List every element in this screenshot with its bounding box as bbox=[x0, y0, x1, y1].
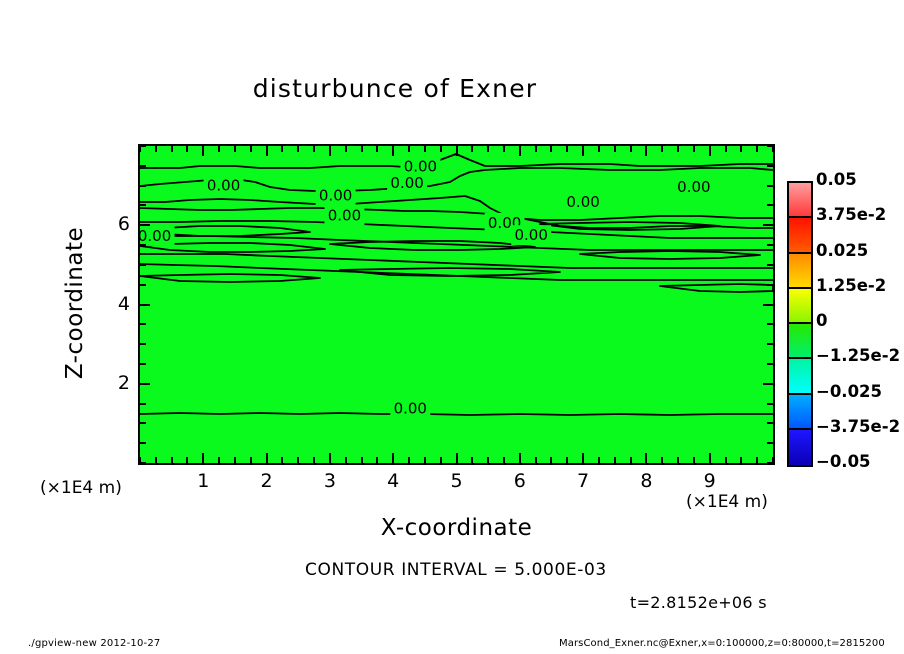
y-tick-right-major bbox=[763, 224, 773, 226]
x-tick-label: 4 bbox=[373, 470, 413, 492]
x-tick-top-minor bbox=[535, 146, 537, 152]
x-tick-minor bbox=[234, 457, 236, 463]
x-axis-unit-right: (×1E4 m) bbox=[686, 492, 768, 512]
contour-label: 0.00 bbox=[404, 158, 437, 176]
colorbar-band[interactable] bbox=[789, 218, 811, 253]
contour-label: 0.00 bbox=[677, 178, 710, 196]
y-tick-label: 2 bbox=[96, 372, 130, 394]
contour-label: 0.00 bbox=[319, 187, 352, 205]
x-tick-minor bbox=[345, 457, 347, 463]
x-tick-major bbox=[456, 453, 458, 463]
footer-source-label: MarsCond_Exner.nc@Exner,x=0:100000,z=0:8… bbox=[559, 638, 885, 649]
y-tick-right-major bbox=[763, 304, 773, 306]
x-tick-minor bbox=[281, 457, 283, 463]
contour-interval-note: CONTOUR INTERVAL = 5.000E-03 bbox=[305, 560, 607, 580]
x-tick-top-major bbox=[645, 146, 647, 156]
x-tick-minor bbox=[630, 457, 632, 463]
y-axis-title: Z-coordinate bbox=[62, 183, 88, 423]
y-tick-minor bbox=[140, 145, 146, 147]
colorbar-tick-label: −3.75e-2 bbox=[816, 417, 900, 436]
x-tick-minor bbox=[725, 457, 727, 463]
x-tick-major bbox=[645, 453, 647, 463]
x-tick-major bbox=[329, 453, 331, 463]
y-tick-right-minor bbox=[767, 363, 773, 365]
y-tick-minor bbox=[140, 442, 146, 444]
x-tick-top-minor bbox=[503, 146, 505, 152]
y-tick-major bbox=[140, 224, 150, 226]
x-tick-top-minor bbox=[550, 146, 552, 152]
y-tick-minor bbox=[140, 264, 146, 266]
x-tick-minor bbox=[566, 457, 568, 463]
x-tick-label: 5 bbox=[437, 470, 477, 492]
x-tick-top-minor bbox=[376, 146, 378, 152]
y-tick-right-minor bbox=[767, 323, 773, 325]
y-tick-label: 4 bbox=[96, 293, 130, 315]
x-tick-minor bbox=[440, 457, 442, 463]
colorbar-tick-label: −1.25e-2 bbox=[816, 346, 900, 365]
x-tick-minor bbox=[756, 457, 758, 463]
contour-path bbox=[140, 208, 773, 228]
y-tick-right-minor bbox=[767, 462, 773, 464]
x-tick-major bbox=[202, 453, 204, 463]
x-tick-label: 8 bbox=[626, 470, 666, 492]
x-tick-top-major bbox=[329, 146, 331, 156]
x-axis-title: X-coordinate bbox=[138, 515, 775, 541]
y-tick-minor bbox=[140, 323, 146, 325]
x-tick-top-major bbox=[456, 146, 458, 156]
x-tick-top-minor bbox=[361, 146, 363, 152]
x-tick-top-minor bbox=[630, 146, 632, 152]
y-tick-right-major bbox=[763, 383, 773, 385]
contour-path bbox=[580, 251, 760, 259]
y-tick-minor bbox=[140, 284, 146, 286]
colorbar-band[interactable] bbox=[789, 254, 811, 289]
colorbar-tick-label: 1.25e-2 bbox=[816, 276, 886, 295]
y-tick-minor bbox=[140, 422, 146, 424]
x-tick-top-minor bbox=[725, 146, 727, 152]
x-tick-top-major bbox=[709, 146, 711, 156]
contour-label: 0.00 bbox=[514, 226, 547, 244]
x-tick-minor bbox=[424, 457, 426, 463]
contour-path bbox=[140, 264, 773, 280]
y-tick-right-minor bbox=[767, 422, 773, 424]
x-tick-major bbox=[519, 453, 521, 463]
contour-lines-svg: 0.000.000.000.000.000.000.000.000.000.00… bbox=[140, 146, 773, 463]
x-tick-minor bbox=[218, 457, 220, 463]
footer-command-label: ./gpview-new 2012-10-27 bbox=[28, 638, 160, 649]
contour-label-group: 0.000.000.000.000.000.000.000.000.000.00… bbox=[140, 157, 714, 419]
y-tick-right-minor bbox=[767, 165, 773, 167]
time-stamp-label: t=2.8152e+06 s bbox=[630, 593, 767, 612]
x-tick-major bbox=[709, 453, 711, 463]
y-tick-minor bbox=[140, 185, 146, 187]
x-tick-major bbox=[266, 453, 268, 463]
x-tick-top-minor bbox=[740, 146, 742, 152]
x-tick-top-minor bbox=[614, 146, 616, 152]
y-tick-right-minor bbox=[767, 264, 773, 266]
x-tick-top-minor bbox=[171, 146, 173, 152]
y-tick-right-minor bbox=[767, 185, 773, 187]
x-tick-label: 3 bbox=[310, 470, 350, 492]
x-tick-top-minor bbox=[693, 146, 695, 152]
x-tick-major bbox=[392, 453, 394, 463]
x-tick-top-minor bbox=[677, 146, 679, 152]
x-tick-minor bbox=[487, 457, 489, 463]
x-tick-top-minor bbox=[566, 146, 568, 152]
x-tick-label: 2 bbox=[247, 470, 287, 492]
x-tick-minor bbox=[693, 457, 695, 463]
contour-label: 0.00 bbox=[566, 193, 599, 211]
y-tick-right-minor bbox=[767, 403, 773, 405]
colorbar-tick-label: −0.05 bbox=[816, 452, 871, 471]
y-tick-minor bbox=[140, 462, 146, 464]
x-tick-label: 6 bbox=[500, 470, 540, 492]
y-tick-right-minor bbox=[767, 145, 773, 147]
x-tick-minor bbox=[677, 457, 679, 463]
colorbar[interactable] bbox=[787, 181, 813, 467]
colorbar-band[interactable] bbox=[789, 324, 811, 359]
y-tick-minor bbox=[140, 165, 146, 167]
colorbar-tick-label: 3.75e-2 bbox=[816, 205, 886, 224]
x-tick-top-minor bbox=[218, 146, 220, 152]
x-tick-top-minor bbox=[471, 146, 473, 152]
contour-label: 0.00 bbox=[390, 174, 423, 192]
y-tick-minor bbox=[140, 363, 146, 365]
x-tick-minor bbox=[186, 457, 188, 463]
x-tick-top-major bbox=[202, 146, 204, 156]
y-tick-right-minor bbox=[767, 343, 773, 345]
x-tick-top-minor bbox=[234, 146, 236, 152]
y-tick-minor bbox=[140, 244, 146, 246]
colorbar-band[interactable] bbox=[789, 430, 811, 465]
y-tick-right-minor bbox=[767, 442, 773, 444]
x-tick-minor bbox=[408, 457, 410, 463]
x-tick-top-minor bbox=[661, 146, 663, 152]
x-tick-minor bbox=[250, 457, 252, 463]
y-tick-right-minor bbox=[767, 244, 773, 246]
x-tick-top-minor bbox=[756, 146, 758, 152]
colorbar-tick-label: 0.025 bbox=[816, 241, 868, 260]
contour-path bbox=[140, 413, 773, 415]
contour-path bbox=[140, 254, 773, 268]
x-tick-minor bbox=[598, 457, 600, 463]
x-tick-minor bbox=[171, 457, 173, 463]
y-tick-right-minor bbox=[767, 204, 773, 206]
contour-path bbox=[660, 284, 773, 292]
x-tick-minor bbox=[503, 457, 505, 463]
x-tick-minor bbox=[155, 457, 157, 463]
contour-label: 0.00 bbox=[394, 400, 427, 418]
x-tick-label: 9 bbox=[690, 470, 730, 492]
y-tick-minor bbox=[140, 403, 146, 405]
colorbar-band[interactable] bbox=[789, 183, 811, 218]
contour-path bbox=[140, 274, 320, 282]
x-tick-top-minor bbox=[155, 146, 157, 152]
colorbar-band[interactable] bbox=[789, 359, 811, 394]
x-tick-minor bbox=[740, 457, 742, 463]
colorbar-tick-label: −0.025 bbox=[816, 382, 882, 401]
colorbar-tick-label: 0 bbox=[816, 311, 827, 330]
x-tick-minor bbox=[471, 457, 473, 463]
x-tick-top-minor bbox=[186, 146, 188, 152]
x-tick-minor bbox=[361, 457, 363, 463]
x-tick-major bbox=[582, 453, 584, 463]
contour-label: 0.00 bbox=[140, 227, 171, 245]
x-tick-top-minor bbox=[487, 146, 489, 152]
y-tick-label: 6 bbox=[96, 213, 130, 235]
x-tick-minor bbox=[313, 457, 315, 463]
contour-path bbox=[330, 241, 535, 250]
colorbar-tick-label: 0.05 bbox=[816, 170, 857, 189]
x-tick-top-major bbox=[519, 146, 521, 156]
x-tick-top-minor bbox=[250, 146, 252, 152]
x-tick-top-major bbox=[392, 146, 394, 156]
y-tick-major bbox=[140, 304, 150, 306]
contour-label: 0.00 bbox=[207, 177, 240, 195]
x-tick-top-major bbox=[266, 146, 268, 156]
y-tick-minor bbox=[140, 343, 146, 345]
x-tick-label: 7 bbox=[563, 470, 603, 492]
contour-label: 0.00 bbox=[328, 206, 361, 224]
x-tick-minor bbox=[297, 457, 299, 463]
y-tick-right-minor bbox=[767, 284, 773, 286]
contour-path bbox=[140, 154, 773, 168]
x-tick-top-minor bbox=[408, 146, 410, 152]
x-tick-top-minor bbox=[281, 146, 283, 152]
x-tick-minor bbox=[550, 457, 552, 463]
x-tick-minor bbox=[376, 457, 378, 463]
x-tick-label: 1 bbox=[183, 470, 223, 492]
x-tick-top-minor bbox=[297, 146, 299, 152]
colorbar-band[interactable] bbox=[789, 289, 811, 324]
x-tick-top-minor bbox=[440, 146, 442, 152]
x-tick-top-minor bbox=[313, 146, 315, 152]
x-tick-top-minor bbox=[598, 146, 600, 152]
x-tick-minor bbox=[535, 457, 537, 463]
x-tick-top-major bbox=[582, 146, 584, 156]
x-tick-top-minor bbox=[424, 146, 426, 152]
x-tick-minor bbox=[661, 457, 663, 463]
x-tick-top-minor bbox=[345, 146, 347, 152]
x-tick-minor bbox=[614, 457, 616, 463]
y-tick-major bbox=[140, 383, 150, 385]
colorbar-band[interactable] bbox=[789, 395, 811, 430]
page-title: disturbunce of Exner bbox=[0, 74, 790, 103]
y-tick-minor bbox=[140, 204, 146, 206]
contour-path bbox=[140, 196, 773, 220]
x-axis-unit-left: (×1E4 m) bbox=[40, 478, 122, 498]
contour-plot-area[interactable]: 0.000.000.000.000.000.000.000.000.000.00… bbox=[138, 144, 775, 465]
